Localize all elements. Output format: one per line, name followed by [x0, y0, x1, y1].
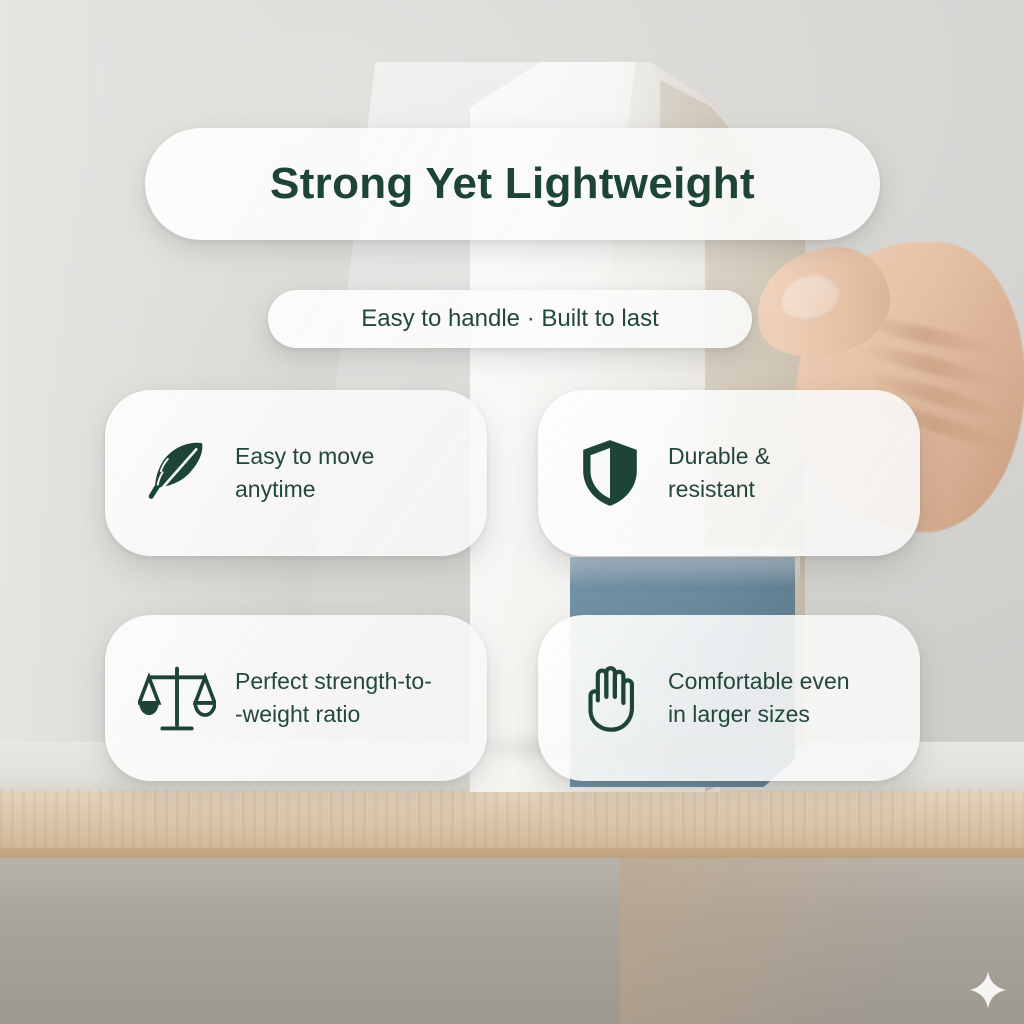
feather-icon: [135, 431, 219, 515]
feature-line-1: Easy to move: [235, 443, 374, 469]
feature-line-1: Durable &: [668, 443, 770, 469]
hand-icon: [568, 656, 652, 740]
feature-card-strength-to-weight[interactable]: Perfect strength-to- -weight ratio: [105, 615, 487, 781]
feature-line-1: Perfect strength-to-: [235, 668, 432, 694]
feature-line-2: -weight ratio: [235, 701, 360, 727]
shield-icon: [568, 431, 652, 515]
feature-card-label: Comfortable even in larger sizes: [668, 665, 850, 730]
feature-card-durable[interactable]: Durable & resistant: [538, 390, 920, 556]
title-banner: Strong Yet Lightweight: [145, 128, 880, 240]
feature-line-2: in larger sizes: [668, 701, 810, 727]
page-subtitle: Easy to handle · Built to last: [361, 305, 659, 333]
feature-card-easy-to-move[interactable]: Easy to move anytime: [105, 390, 487, 556]
background-floor-warm-light: [620, 858, 1024, 1024]
feature-card-label: Durable & resistant: [668, 440, 770, 505]
feature-line-2: resistant: [668, 476, 755, 502]
sparkle-icon: [966, 968, 1010, 1012]
feature-line-2: anytime: [235, 476, 316, 502]
balance-scale-icon: [135, 656, 219, 740]
page-title: Strong Yet Lightweight: [270, 159, 755, 209]
feature-card-label: Easy to move anytime: [235, 440, 374, 505]
subtitle-banner: Easy to handle · Built to last: [268, 290, 752, 348]
feature-card-comfortable[interactable]: Comfortable even in larger sizes: [538, 615, 920, 781]
infographic-canvas: Strong Yet Lightweight Easy to handle · …: [0, 0, 1024, 1024]
feature-line-1: Comfortable even: [668, 668, 850, 694]
feature-card-label: Perfect strength-to- -weight ratio: [235, 665, 432, 730]
